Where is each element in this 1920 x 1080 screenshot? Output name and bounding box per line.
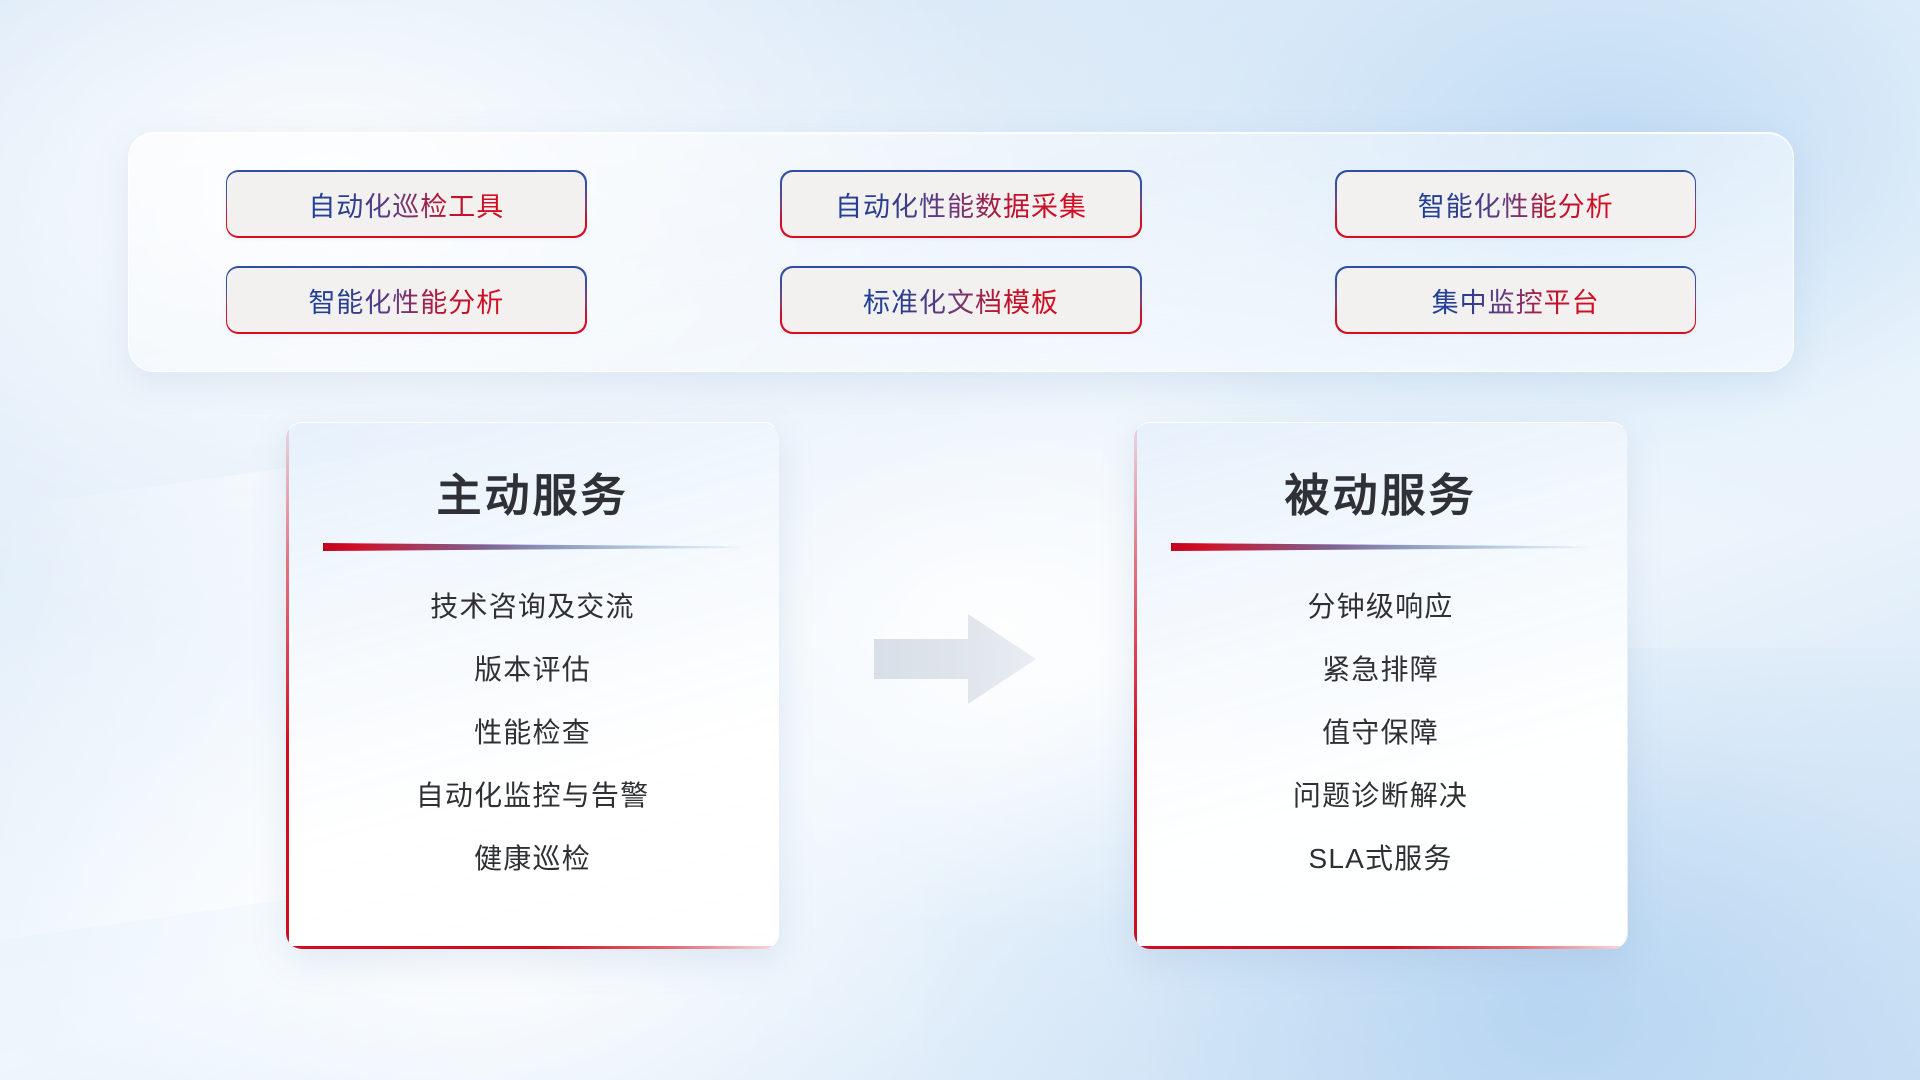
capability-chip-standardized-document-template[interactable]: 标准化文档模板 [782,268,1140,332]
card-accent-left-edge [286,423,289,949]
title-divider-bar [1171,543,1591,551]
right-arrow-icon [872,612,1038,706]
capability-row-2: 智能化性能分析 标准化文档模板 集中监控平台 [129,268,1793,332]
capability-chip-label: 智能化性能分析 [308,281,504,320]
card-accent-bottom-edge [286,946,779,949]
capability-chip-automated-performance-data-collection[interactable]: 自动化性能数据采集 [782,172,1140,236]
service-list-item: 版本评估 [474,648,591,688]
card-accent-bottom-edge [1134,946,1627,949]
slide-stage: 自动化巡检工具 自动化性能数据采集 智能化性能分析 智能化性能分析 [0,0,1920,1080]
title-divider [1171,543,1591,551]
capability-chip-label: 自动化性能数据采集 [835,185,1087,224]
capability-panel: 自动化巡检工具 自动化性能数据采集 智能化性能分析 智能化性能分析 [128,132,1794,372]
service-item-list: 技术咨询及交流 版本评估 性能检查 自动化监控与告警 健康巡检 [286,585,779,877]
capability-chip-centralized-monitoring-platform[interactable]: 集中监控平台 [1337,268,1695,332]
service-list-item: 技术咨询及交流 [430,585,634,625]
title-divider [323,543,743,551]
capability-chip-automated-inspection-tool[interactable]: 自动化巡检工具 [227,172,585,236]
capability-chip-label: 自动化巡检工具 [308,185,504,224]
capability-chip-label: 集中监控平台 [1432,281,1600,320]
service-card-reactive: 被动服务 分钟级响应 紧急排障 值守保障 问题诊断解决 SLA式服务 [1134,422,1628,949]
card-accent-left-edge [1134,423,1137,949]
capability-slot: 智能化性能分析 [129,268,684,332]
capability-slot: 自动化巡检工具 [129,172,684,236]
service-item-list: 分钟级响应 紧急排障 值守保障 问题诊断解决 SLA式服务 [1134,585,1627,877]
service-list-item: 自动化监控与告警 [416,774,650,814]
service-list-item: 紧急排障 [1322,648,1439,688]
title-divider-bar [323,543,743,551]
capability-slot: 集中监控平台 [1238,268,1793,332]
service-list-item: 健康巡检 [474,837,591,877]
capability-slot: 标准化文档模板 [684,268,1239,332]
capability-chip-intelligent-performance-analysis[interactable]: 智能化性能分析 [1337,172,1695,236]
service-list-item: 问题诊断解决 [1293,774,1468,814]
capability-slot: 智能化性能分析 [1238,172,1793,236]
service-list-item: SLA式服务 [1308,837,1452,877]
service-card-title: 主动服务 [286,459,779,524]
service-card-proactive: 主动服务 技术咨询及交流 版本评估 性能检查 自动化监控与告警 健康巡检 [286,422,780,949]
service-list-item: 性能检查 [474,711,591,751]
service-list-item: 值守保障 [1322,711,1439,751]
capability-slot: 自动化性能数据采集 [684,172,1239,236]
capability-row-1: 自动化巡检工具 自动化性能数据采集 智能化性能分析 [129,172,1793,236]
service-list-item: 分钟级响应 [1307,585,1453,625]
capability-chip-label: 智能化性能分析 [1418,185,1614,224]
capability-chip-label: 标准化文档模板 [863,281,1059,320]
service-card-title: 被动服务 [1134,459,1627,524]
capability-chip-intelligent-performance-analysis-2[interactable]: 智能化性能分析 [227,268,585,332]
